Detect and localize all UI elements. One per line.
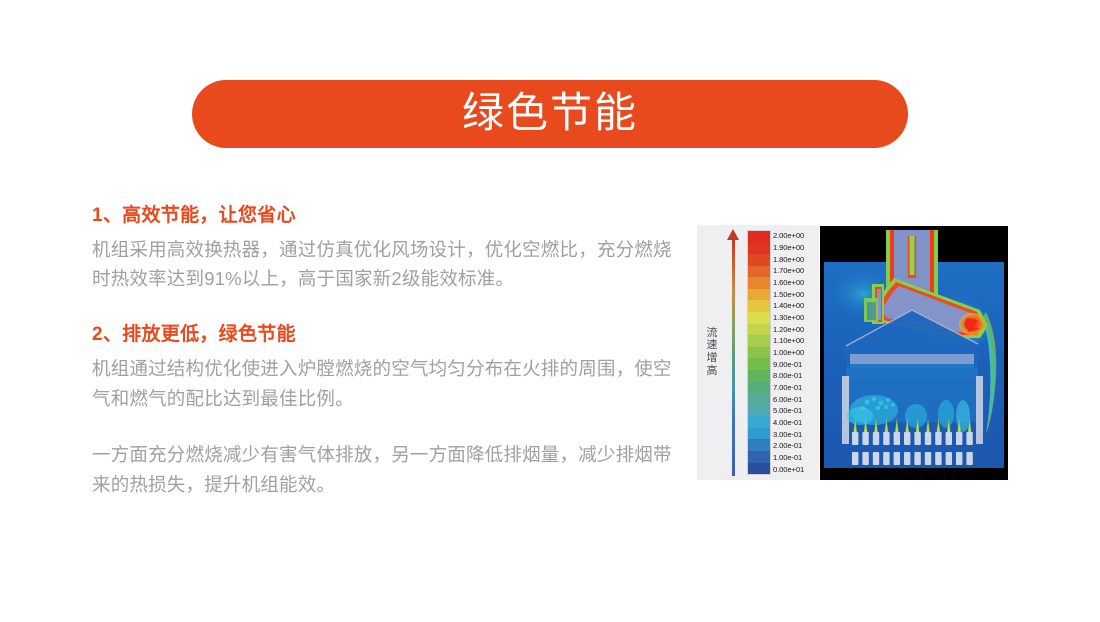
- section-heading-2: 2、排放更低，绿色节能: [92, 321, 678, 350]
- legend-value: 1.90e+00: [773, 242, 819, 254]
- colorbar-swatch: [748, 382, 770, 394]
- legend-axis-label: 流 速 增 高: [704, 327, 720, 379]
- colorbar-swatch: [748, 324, 770, 336]
- section-body-2: 机组通过结构优化使进入炉膛燃烧的空气均匀分布在火排的周围，使空气和燃气的配比达到…: [92, 354, 678, 414]
- colorbar-swatch: [748, 439, 770, 451]
- legend-value: 1.50e+00: [773, 288, 819, 300]
- colorbar-swatch: [748, 277, 770, 289]
- up-arrow-icon: [727, 229, 740, 476]
- legend-value: 8.00e-01: [773, 370, 819, 382]
- burner-block: [966, 432, 972, 445]
- burner-block: [852, 432, 858, 445]
- colorbar-swatch: [748, 370, 770, 382]
- burner-block: [894, 432, 900, 445]
- cfd-figure: 流 速 增 高 2.00e+001.90e+001.80e+001.70e+00…: [697, 225, 1008, 480]
- arrow-shaft: [732, 238, 735, 476]
- legend-axis-char-3: 增: [704, 353, 720, 366]
- legend-value: 1.80e+00: [773, 253, 819, 265]
- content-block-1: 1、高效节能，让您省心 机组采用高效换热器，通过仿真优化风场设计，优化空燃比，充…: [92, 202, 678, 294]
- colorbar-swatch: [748, 312, 770, 324]
- burner-block: [873, 452, 879, 465]
- burner-block: [914, 452, 920, 465]
- legend-value-list: 2.00e+001.90e+001.80e+001.70e+001.60e+00…: [773, 230, 819, 475]
- page-title: 绿色节能: [462, 92, 638, 136]
- legend-value: 2.00e-01: [773, 440, 819, 452]
- colorbar-swatch: [748, 243, 770, 255]
- legend-axis-char-4: 高: [704, 365, 720, 378]
- burner-block: [883, 452, 889, 465]
- colorbar-swatch: [748, 266, 770, 278]
- legend-axis-char-1: 流: [704, 327, 720, 340]
- colorbar-swatch: [748, 405, 770, 417]
- legend-value: 1.30e+00: [773, 312, 819, 324]
- colorbar: [747, 230, 771, 475]
- burner-block: [956, 432, 962, 445]
- burner-block: [935, 432, 941, 445]
- burner-block: [966, 452, 972, 465]
- legend-value: 1.70e+00: [773, 265, 819, 277]
- burner-block: [946, 432, 952, 445]
- burner-block: [894, 452, 900, 465]
- velocity-legend-panel: 流 速 增 高 2.00e+001.90e+001.80e+001.70e+00…: [697, 225, 819, 480]
- legend-value: 4.00e-01: [773, 417, 819, 429]
- legend-value: 0.00e+01: [773, 463, 819, 475]
- colorbar-swatch: [748, 451, 770, 463]
- burner-block: [946, 452, 952, 465]
- colorbar-swatch: [748, 416, 770, 428]
- content-block-2: 2、排放更低，绿色节能 机组通过结构优化使进入炉膛燃烧的空气均匀分布在火排的周围…: [92, 321, 678, 413]
- section-body-3: 一方面充分燃烧减少有害气体排放，另一方面降低排烟量，减少排烟带来的热损失，提升机…: [92, 440, 678, 500]
- burner-block: [914, 432, 920, 445]
- burner-block: [862, 452, 868, 465]
- colorbar-swatch: [748, 463, 770, 475]
- legend-value: 6.00e-01: [773, 393, 819, 405]
- legend-axis-char-2: 速: [704, 340, 720, 353]
- colorbar-swatch: [748, 254, 770, 266]
- colorbar-swatch: [748, 358, 770, 370]
- colorbar-swatch: [748, 300, 770, 312]
- cfd-simulation-image: [820, 226, 1008, 480]
- content-column: 1、高效节能，让您省心 机组采用高效换热器，通过仿真优化风场设计，优化空燃比，充…: [92, 202, 678, 500]
- colorbar-swatch: [748, 335, 770, 347]
- colorbar-swatch: [748, 231, 770, 243]
- burner-block: [956, 452, 962, 465]
- content-block-3: 一方面充分燃烧减少有害气体排放，另一方面降低排烟量，减少排烟带来的热损失，提升机…: [92, 440, 678, 500]
- legend-value: 5.00e-01: [773, 405, 819, 417]
- colorbar-swatch: [748, 347, 770, 359]
- burner-block: [925, 452, 931, 465]
- legend-value: 1.60e+00: [773, 277, 819, 289]
- legend-value: 1.20e+00: [773, 323, 819, 335]
- burner-block: [873, 432, 879, 445]
- legend-value: 1.40e+00: [773, 300, 819, 312]
- page-title-banner: 绿色节能: [192, 80, 908, 148]
- colorbar-swatch: [748, 428, 770, 440]
- legend-value: 2.00e+00: [773, 230, 819, 242]
- section-body-1: 机组采用高效换热器，通过仿真优化风场设计，优化空燃比，充分燃烧时热效率达到91%…: [92, 235, 678, 295]
- burner-block: [935, 452, 941, 465]
- burner-block: [883, 432, 889, 445]
- legend-value: 9.00e-01: [773, 358, 819, 370]
- legend-value: 1.00e+00: [773, 347, 819, 359]
- legend-value: 1.00e-01: [773, 452, 819, 464]
- legend-value: 1.10e+00: [773, 335, 819, 347]
- burner-block: [904, 452, 910, 465]
- section-heading-1: 1、高效节能，让您省心: [92, 202, 678, 231]
- burner-block: [925, 432, 931, 445]
- legend-value: 3.00e-01: [773, 428, 819, 440]
- burner-block: [852, 452, 858, 465]
- colorbar-swatch: [748, 289, 770, 301]
- burner-block: [862, 432, 868, 445]
- cfd-velocity-field: [820, 226, 1008, 480]
- colorbar-swatch: [748, 393, 770, 405]
- burner-block: [904, 432, 910, 445]
- legend-value: 7.00e-01: [773, 382, 819, 394]
